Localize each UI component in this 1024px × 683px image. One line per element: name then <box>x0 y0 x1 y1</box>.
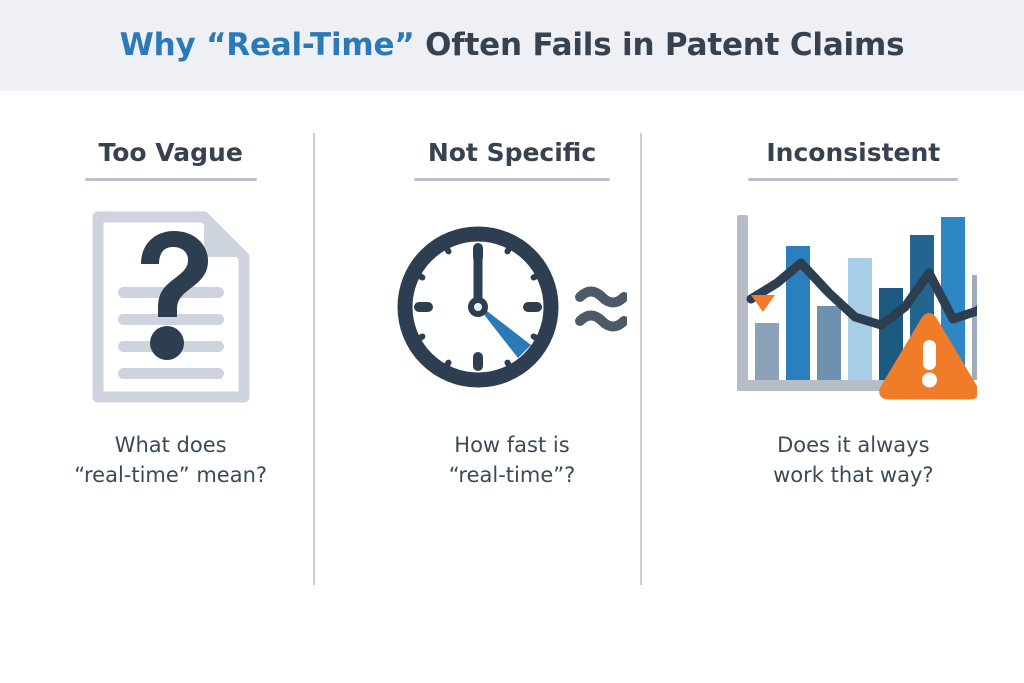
clock-center-dot <box>474 303 482 311</box>
icon-area-inconsistent <box>729 191 977 423</box>
chart-bar-8 <box>972 275 977 380</box>
chart-bar-3 <box>817 306 841 380</box>
page-title-plain: Often Fails in Patent Claims <box>415 27 905 63</box>
bar-chart-warning-icon <box>729 207 977 407</box>
column-heading-too-vague: Too Vague <box>99 140 243 165</box>
column-not-specific: Not Specific <box>341 91 682 683</box>
heading-rule-inconsistent <box>748 178 958 181</box>
column-inconsistent: Inconsistent <box>683 91 1024 683</box>
caption-line-2: work that way? <box>773 461 933 491</box>
document-question-icon <box>86 207 256 407</box>
icon-area-not-specific <box>397 191 627 423</box>
document-text-line-4 <box>118 368 224 379</box>
icon-area-too-vague <box>86 191 256 423</box>
warning-exclamation-bar <box>923 340 936 370</box>
caption-too-vague: What does “real-time” mean? <box>74 431 267 491</box>
document-folded-corner <box>204 217 244 257</box>
down-triangle-marker-icon <box>751 295 775 312</box>
chart-y-axis <box>737 215 748 391</box>
heading-rule-not-specific <box>414 178 610 181</box>
column-too-vague: Too Vague <box>0 91 341 683</box>
page-title: Why “Real-Time” Often Fails in Patent Cl… <box>120 30 905 61</box>
page-title-accent: Why “Real-Time” <box>120 27 415 63</box>
caption-line-1: Does it always <box>773 431 933 461</box>
question-mark-dot <box>150 326 184 360</box>
caption-inconsistent: Does it always work that way? <box>773 431 933 491</box>
caption-line-1: How fast is <box>449 431 576 461</box>
caption-line-1: What does <box>74 431 267 461</box>
infographic-page: Why “Real-Time” Often Fails in Patent Cl… <box>0 0 1024 683</box>
chart-bar-1 <box>755 323 779 380</box>
approximately-equal-icon <box>580 291 624 326</box>
columns-container: Too Vague <box>0 91 1024 683</box>
warning-exclamation-dot <box>922 373 937 388</box>
heading-rule-too-vague <box>85 178 257 181</box>
caption-not-specific: How fast is “real-time”? <box>449 431 576 491</box>
column-heading-not-specific: Not Specific <box>428 140 596 165</box>
column-heading-inconsistent: Inconsistent <box>766 140 940 165</box>
caption-line-2: “real-time” mean? <box>74 461 267 491</box>
header-band: Why “Real-Time” Often Fails in Patent Cl… <box>0 0 1024 91</box>
caption-line-2: “real-time”? <box>449 461 576 491</box>
clock-approximate-icon <box>397 215 627 400</box>
